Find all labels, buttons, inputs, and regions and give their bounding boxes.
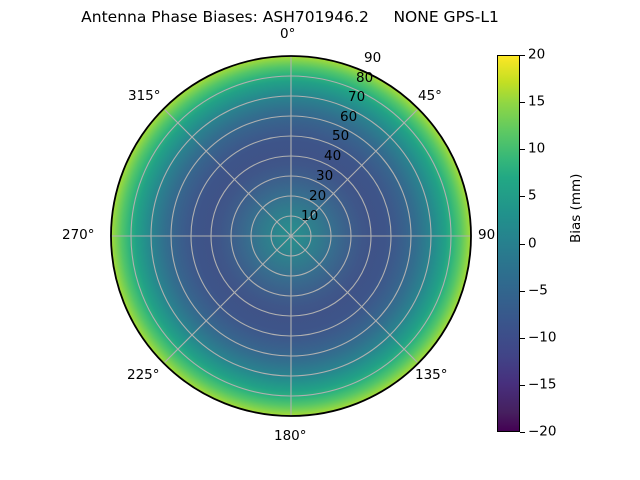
polar-axes[interactable]: 0° 45° 90 135° 180° 225° 270° 315° 10 20… bbox=[110, 55, 472, 417]
polar-angular-gridlines bbox=[111, 56, 471, 416]
angular-tick-315: 315° bbox=[128, 90, 161, 104]
angular-tick-225: 225° bbox=[127, 369, 160, 383]
colorbar-ticklabel-5: 5 bbox=[528, 190, 537, 204]
colorbar-tick-mark bbox=[520, 196, 525, 197]
colorbar-gradient bbox=[497, 55, 520, 432]
angular-tick-0: 0° bbox=[280, 28, 295, 42]
colorbar-ticklabel-20: 20 bbox=[528, 48, 545, 62]
polar-plot-svg bbox=[110, 55, 472, 417]
colorbar-tick-mark bbox=[520, 338, 525, 339]
colorbar-ticklabel-0: 0 bbox=[528, 237, 537, 251]
colorbar-ticklabel-10: 10 bbox=[528, 142, 545, 156]
radial-tick-60: 60 bbox=[340, 111, 357, 125]
colorbar-tick-mark bbox=[520, 291, 525, 292]
radial-tick-20: 20 bbox=[309, 190, 326, 204]
radial-tick-40: 40 bbox=[324, 150, 341, 164]
page-title: Antenna Phase Biases: ASH701946.2 NONE G… bbox=[0, 8, 580, 26]
angular-tick-180: 180° bbox=[274, 430, 307, 444]
figure-canvas: Antenna Phase Biases: ASH701946.2 NONE G… bbox=[0, 0, 640, 480]
radial-tick-90: 90 bbox=[364, 52, 381, 66]
radial-tick-80: 80 bbox=[356, 72, 373, 86]
angular-tick-90: 90 bbox=[478, 229, 495, 243]
radial-tick-50: 50 bbox=[332, 130, 349, 144]
radial-tick-70: 70 bbox=[348, 91, 365, 105]
colorbar-tick-mark bbox=[520, 102, 525, 103]
angular-tick-270: 270° bbox=[62, 229, 95, 243]
colorbar-tick-mark bbox=[520, 244, 525, 245]
colorbar-tick-mark bbox=[520, 149, 525, 150]
colorbar-tick-mark bbox=[520, 432, 525, 433]
angular-tick-45: 45° bbox=[418, 90, 442, 104]
colorbar[interactable]: 20 15 10 5 0 −5 −10 −15 −20 bbox=[497, 55, 520, 432]
colorbar-tick-mark bbox=[520, 55, 525, 56]
colorbar-ticklabel-15: 15 bbox=[528, 95, 545, 109]
colorbar-ticklabel-neg10: −10 bbox=[528, 331, 557, 345]
colorbar-tick-mark bbox=[520, 385, 525, 386]
colorbar-ticklabel-neg20: −20 bbox=[528, 425, 557, 439]
radial-tick-10: 10 bbox=[301, 210, 318, 224]
colorbar-ticklabel-neg15: −15 bbox=[528, 378, 557, 392]
radial-tick-30: 30 bbox=[316, 170, 333, 184]
colorbar-axis-label: Bias (mm) bbox=[568, 174, 584, 243]
angular-tick-135: 135° bbox=[415, 369, 448, 383]
colorbar-ticklabel-neg5: −5 bbox=[528, 284, 548, 298]
